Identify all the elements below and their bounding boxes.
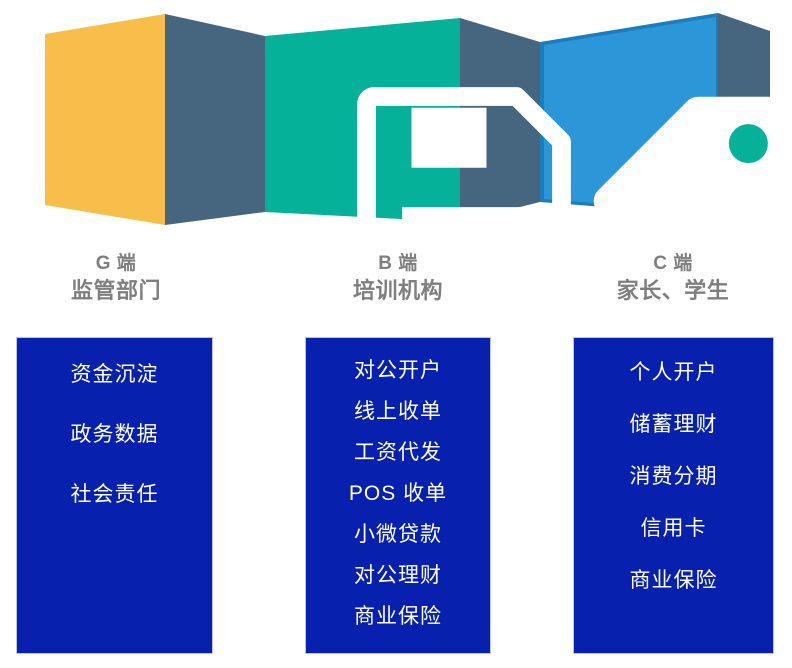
column-headings: G 端 监管部门 B 端 培训机构 C 端 家长、学生 — [0, 252, 792, 328]
service-box-b: 对公开户线上收单工资代发POS 收单小微贷款对公理财商业保险 — [305, 337, 491, 654]
service-item: 线上收单 — [354, 395, 442, 425]
service-item: 对公理财 — [354, 559, 442, 589]
column-heading-g: G 端 监管部门 — [18, 252, 214, 305]
service-item: 社会责任 — [71, 478, 159, 508]
service-item: 政务数据 — [71, 418, 159, 448]
service-item: 储蓄理财 — [630, 408, 718, 438]
service-item: 信用卡 — [641, 512, 707, 542]
service-item: 资金沉淀 — [71, 358, 159, 388]
panel-face-g — [45, 14, 165, 225]
panel-fold-g-b — [165, 14, 265, 225]
heading-g-line1: G 端 — [18, 252, 214, 277]
heading-c-line2: 家长、学生 — [572, 277, 774, 306]
service-item: POS 收单 — [349, 477, 447, 507]
service-item: 工资代发 — [354, 436, 442, 466]
heading-b-line1: B 端 — [305, 252, 491, 277]
panel-face-b — [265, 18, 460, 222]
service-item: 小微贷款 — [354, 518, 442, 548]
service-item: 商业保险 — [630, 564, 718, 594]
service-item: 商业保险 — [354, 600, 442, 630]
heading-g-line2: 监管部门 — [18, 277, 214, 306]
service-box-c: 个人开户储蓄理财消费分期信用卡商业保险 — [573, 337, 774, 654]
ribbon-svg — [0, 0, 792, 240]
service-item: 个人开户 — [630, 356, 718, 386]
panel-face-c — [544, 17, 716, 213]
service-item: 消费分期 — [630, 460, 718, 490]
panel-fold-c-end — [718, 13, 770, 216]
panel-fold-b-c — [460, 18, 540, 222]
column-heading-c: C 端 家长、学生 — [572, 252, 774, 305]
ribbon-band — [0, 0, 792, 240]
heading-b-line2: 培训机构 — [305, 277, 491, 306]
service-item: 对公开户 — [354, 354, 442, 384]
service-box-g: 资金沉淀政务数据社会责任 — [16, 337, 213, 654]
column-heading-b: B 端 培训机构 — [305, 252, 491, 305]
heading-c-line1: C 端 — [572, 252, 774, 277]
